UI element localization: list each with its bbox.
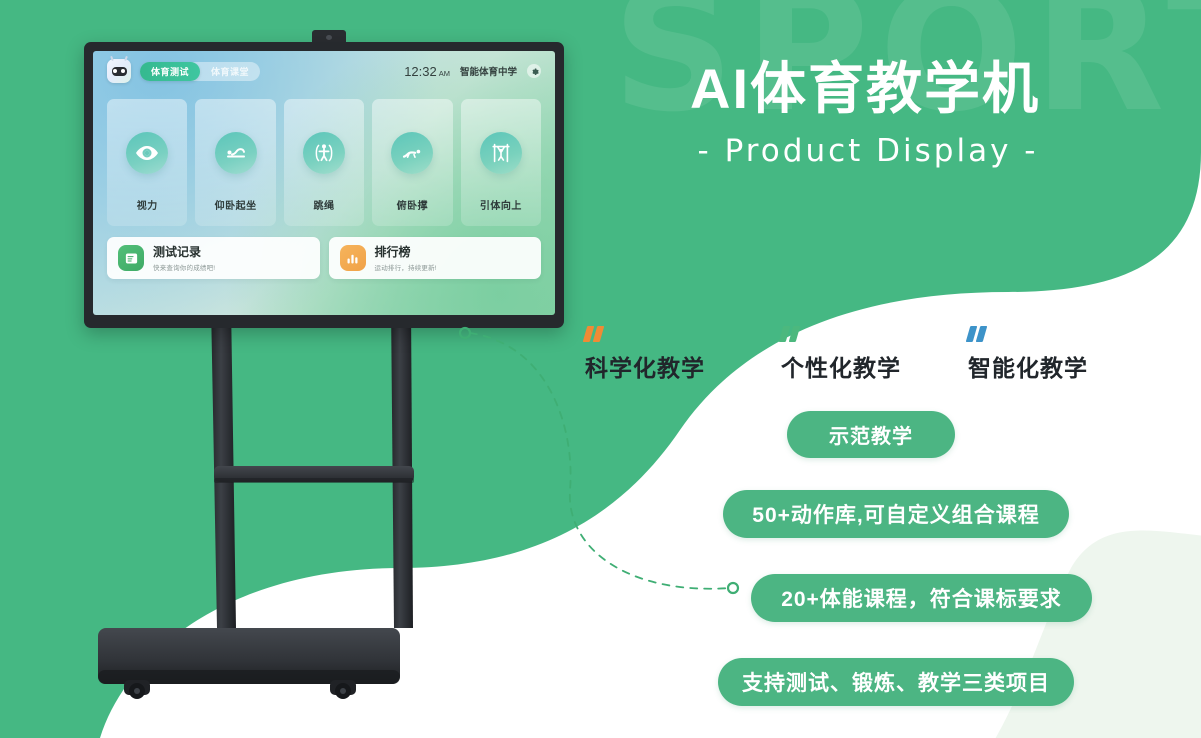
pull-up-glyph [489, 141, 513, 165]
quote-mark-icon [585, 326, 705, 342]
app-grid: 视力 仰卧起坐 [107, 99, 541, 226]
shortcut-subtitle: 运动排行，持续更新! [375, 262, 437, 272]
app-card-pullup[interactable]: 引体向上 [461, 99, 541, 226]
connector-dot-start [460, 328, 470, 338]
feature-label: 科学化教学 [585, 349, 705, 383]
jump-rope-glyph [312, 141, 336, 165]
page-subtitle: - Product Display - [690, 133, 1040, 169]
school-name: 智能体育中学 [460, 64, 517, 78]
shortcut-subtitle: 快来查询你的成绩吧! [153, 262, 215, 272]
feature-personalized: 个性化教学 [781, 326, 901, 383]
app-card-situp[interactable]: 仰卧起坐 [195, 99, 275, 226]
app-label: 视力 [137, 197, 158, 212]
robot-antenna-left-icon [110, 56, 114, 61]
jump-rope-icon [303, 132, 345, 174]
eye-glyph [135, 141, 159, 165]
shortcut-title: 测试记录 [153, 245, 215, 260]
robot-face-icon [112, 67, 127, 76]
quote-mark-icon [781, 326, 901, 342]
mode-tabs: 体育测试 体育课堂 [140, 62, 260, 81]
tv-screen: 体育测试 体育课堂 12:32AM 智能体育中学 [93, 51, 555, 315]
shortcut-card-test-records[interactable]: 测试记录 快来查询你的成绩吧! [107, 237, 320, 279]
shortcut-text: 测试记录 快来查询你的成绩吧! [153, 245, 215, 272]
pill-fitness-courses[interactable]: 20+体能课程，符合课标要求 [751, 574, 1092, 622]
push-up-icon [391, 132, 433, 174]
app-label: 引体向上 [480, 197, 522, 212]
pill-demo-teaching[interactable]: 示范教学 [787, 411, 955, 458]
record-list-glyph [124, 251, 139, 266]
app-card-vision[interactable]: 视力 [107, 99, 187, 226]
feature-label: 智能化教学 [968, 349, 1088, 383]
shortcut-row: 测试记录 快来查询你的成绩吧! [107, 237, 541, 279]
app-card-jumprope[interactable]: 跳绳 [284, 99, 364, 226]
push-up-glyph [400, 141, 424, 165]
headline-block: AI体育教学机 - Product Display - [690, 58, 1040, 169]
clock: 12:32AM [404, 64, 450, 79]
robot-antenna-right-icon [124, 56, 128, 61]
feature-scientific: 科学化教学 [585, 326, 705, 383]
bar-chart-glyph [345, 251, 360, 266]
gear-glyph [530, 67, 539, 76]
clock-meridiem: AM [439, 69, 450, 78]
feature-intelligent: 智能化教学 [968, 326, 1088, 383]
robot-avatar-icon[interactable] [107, 59, 131, 83]
quote-mark-icon [968, 326, 1088, 342]
gear-icon[interactable] [527, 64, 541, 78]
record-list-icon [118, 245, 144, 271]
sit-up-glyph [224, 141, 248, 165]
page-title: AI体育教学机 [690, 58, 1040, 121]
poster-canvas: SPORTS AI体育教学机 - Product Display - 体育测试 [0, 0, 1201, 738]
app-label: 俯卧撑 [397, 197, 429, 212]
bar-chart-icon [340, 245, 366, 271]
shortcut-card-leaderboard[interactable]: 排行榜 运动排行，持续更新! [329, 237, 542, 279]
shortcut-title: 排行榜 [375, 245, 437, 260]
app-card-pushup[interactable]: 俯卧撑 [372, 99, 452, 226]
pill-three-categories[interactable]: 支持测试、锻炼、教学三类项目 [718, 658, 1074, 706]
pull-up-icon [480, 132, 522, 174]
tv-bezel: 体育测试 体育课堂 12:32AM 智能体育中学 [84, 42, 564, 328]
feature-label: 个性化教学 [781, 349, 901, 383]
tab-sports-class[interactable]: 体育课堂 [200, 62, 260, 81]
stand-caster-right [330, 680, 356, 699]
app-label: 仰卧起坐 [215, 197, 257, 212]
tab-sports-test[interactable]: 体育测试 [140, 62, 200, 81]
app-label: 跳绳 [314, 197, 335, 212]
sit-up-icon [215, 132, 257, 174]
stand-caster-left [124, 680, 150, 699]
connector-dot-end [728, 583, 738, 593]
clock-time: 12:32 [404, 64, 437, 79]
eye-icon [126, 132, 168, 174]
screen-topbar: 体育测试 体育课堂 12:32AM 智能体育中学 [93, 51, 555, 91]
topbar-right: 12:32AM 智能体育中学 [404, 64, 541, 79]
shortcut-text: 排行榜 运动排行，持续更新! [375, 245, 437, 272]
pill-action-library[interactable]: 50+动作库,可自定义组合课程 [723, 490, 1069, 538]
